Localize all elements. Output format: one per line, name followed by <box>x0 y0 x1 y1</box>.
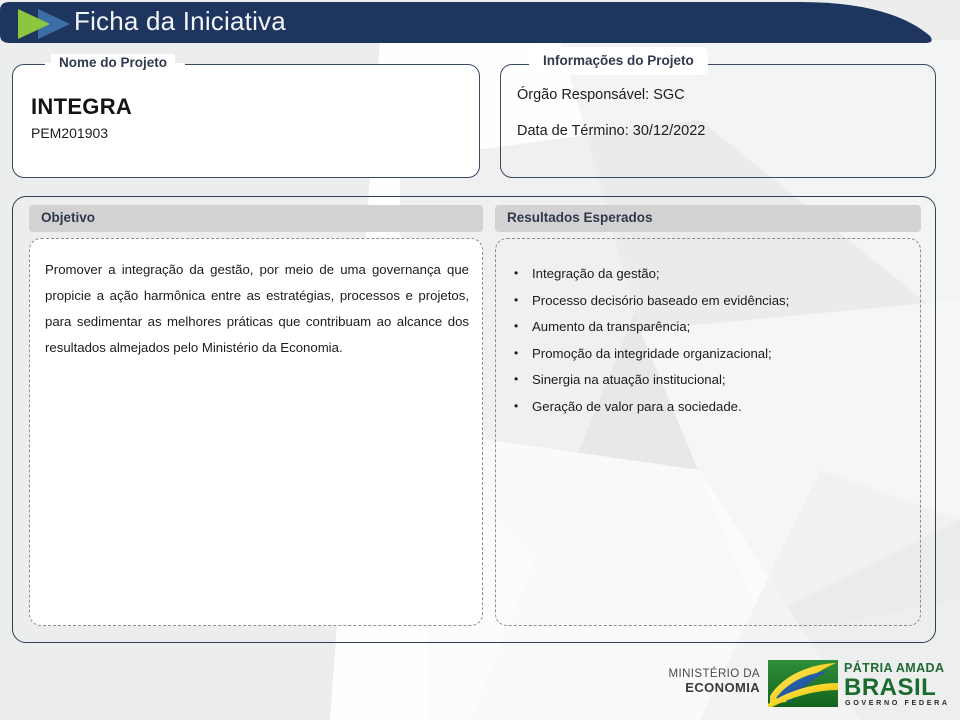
panel-informacoes-do-projeto: Informações do Projeto Órgão Responsável… <box>500 64 936 178</box>
column-objetivo: Objetivo <box>29 205 483 232</box>
data-termino-value: Data de Término: 30/12/2022 <box>517 123 705 139</box>
list-item: Processo decisório baseado em evidências… <box>506 288 906 315</box>
ministerio-line1: MINISTÉRIO DA <box>669 668 760 681</box>
patria-amada-brasil-logo: PÁTRIA AMADA BRASIL GOVERNO FEDERAL <box>768 658 948 710</box>
ministerio-da-economia-logo: MINISTÉRIO DA ECONOMIA <box>669 668 760 695</box>
resultados-content-box: Integração da gestão; Processo decisório… <box>495 238 921 626</box>
orgao-responsavel-value: Órgão Responsável: SGC <box>517 87 685 103</box>
objetivo-content-box: Promover a integração da gestão, por mei… <box>29 238 483 626</box>
slide-canvas: Ficha da Iniciativa Nome do Projeto INTE… <box>0 0 960 720</box>
brasil-line1: PÁTRIA AMADA <box>844 660 944 675</box>
column-resultados: Resultados Esperados <box>495 205 921 232</box>
section-header-resultados: Resultados Esperados <box>495 205 921 232</box>
list-item: Sinergia na atuação institucional; <box>506 367 906 394</box>
brasil-line2: BRASIL <box>844 674 936 701</box>
footer: MINISTÉRIO DA ECONOMIA <box>0 646 960 720</box>
project-name-value: INTEGRA <box>31 94 132 120</box>
objetivo-text: Promover a integração da gestão, por mei… <box>45 257 469 361</box>
project-code-value: PEM201903 <box>31 125 108 141</box>
panel-info-legend: Informações do Projeto <box>529 47 708 75</box>
panel-nome-do-projeto: Nome do Projeto INTEGRA PEM201903 <box>12 64 480 178</box>
list-item: Aumento da transparência; <box>506 314 906 341</box>
section-header-resultados-label: Resultados Esperados <box>507 210 653 225</box>
section-header-objetivo-label: Objetivo <box>41 210 95 225</box>
list-item: Promoção da integridade organizacional; <box>506 341 906 368</box>
page-title: Ficha da Iniciativa <box>74 6 286 37</box>
brasil-line3: GOVERNO FEDERAL <box>845 698 948 707</box>
panel-nome-legend: Nome do Projeto <box>51 54 175 71</box>
resultados-list: Integração da gestão; Processo decisório… <box>506 261 906 420</box>
main-content-container: Objetivo Promover a integração da gestão… <box>12 196 936 643</box>
ministerio-line2: ECONOMIA <box>669 681 760 696</box>
section-header-objetivo: Objetivo <box>29 205 483 232</box>
list-item: Geração de valor para a sociedade. <box>506 394 906 421</box>
list-item: Integração da gestão; <box>506 261 906 288</box>
double-chevron-play-icon <box>14 7 72 41</box>
